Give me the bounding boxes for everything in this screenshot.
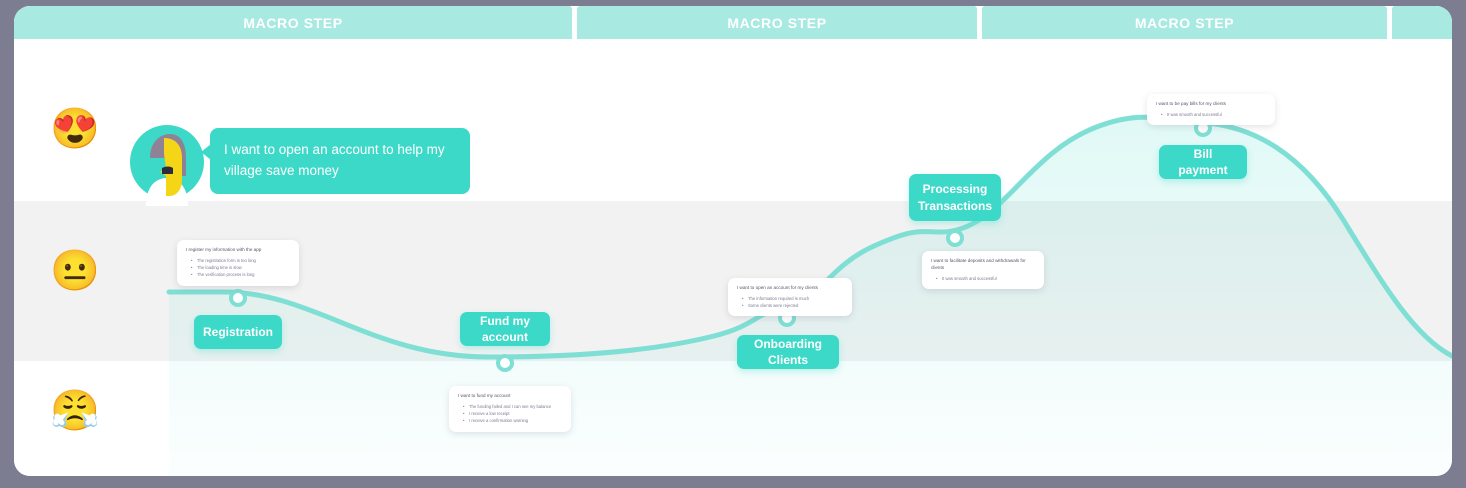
note-card-onboarding[interactable]: I want to open an account for my clients… xyxy=(728,278,852,316)
note-title: I want to be pay bills for my clients xyxy=(1156,101,1266,108)
step-pill-fund-account[interactable]: Fund my account xyxy=(460,312,550,346)
note-bullet-list: The funding failed and I can see my bala… xyxy=(458,403,562,425)
step-pill-processing[interactable]: Processing Transactions xyxy=(909,174,1001,221)
persona-speech-bubble: I want to open an account to help my vil… xyxy=(210,128,470,194)
note-bullet: The funding failed and I can see my bala… xyxy=(465,403,562,410)
step-pill-onboarding-label: Onboarding Clients xyxy=(747,336,829,368)
step-pill-onboarding[interactable]: Onboarding Clients xyxy=(737,335,839,369)
step-pill-bill-payment-label: Bill payment xyxy=(1169,146,1237,178)
note-title: I register my information with the app xyxy=(186,247,290,254)
note-bullet: Some clients were rejected xyxy=(744,302,843,309)
curve-node-processing[interactable] xyxy=(948,231,962,245)
note-card-funding[interactable]: I want to fund my account The funding fa… xyxy=(449,386,571,432)
journey-map-canvas: MACRO STEP MACRO STEP MACRO STEP 😍 😐 😤 xyxy=(14,6,1452,476)
note-card-billpayment[interactable]: I want to be pay bills for my clients It… xyxy=(1147,94,1275,125)
note-bullet: The verification process is long xyxy=(193,271,290,278)
note-title: I want to facilitate deposits and withdr… xyxy=(931,258,1035,272)
note-bullet: The loading time is slow xyxy=(193,264,290,271)
note-bullet: It was smooth and successful xyxy=(1163,111,1266,118)
step-pill-fund-account-label: Fund my account xyxy=(470,313,540,345)
persona-quote-text: I want to open an account to help my vil… xyxy=(224,142,445,178)
step-pill-registration-label: Registration xyxy=(203,324,273,340)
note-bullet-list: The registration form is too long The lo… xyxy=(186,257,290,279)
emotion-icon-neutral: 😐 xyxy=(50,248,96,294)
note-title: I want to open an account for my clients xyxy=(737,285,843,292)
note-bullet: The information required is much xyxy=(744,295,843,302)
step-pill-registration[interactable]: Registration xyxy=(194,315,282,349)
note-card-transactions[interactable]: I want to facilitate deposits and withdr… xyxy=(922,251,1044,289)
note-bullet: The registration form is too long xyxy=(193,257,290,264)
note-card-registration[interactable]: I register my information with the app T… xyxy=(177,240,299,286)
step-pill-bill-payment[interactable]: Bill payment xyxy=(1159,145,1247,179)
note-bullet: I receive a low receipt xyxy=(465,410,562,417)
emotion-icon-negative: 😤 xyxy=(50,388,96,434)
curve-node-registration[interactable] xyxy=(231,291,245,305)
note-bullet: I receive a confirmation warning xyxy=(465,417,562,424)
note-title: I want to fund my account xyxy=(458,393,562,400)
step-pill-processing-label: Processing Transactions xyxy=(918,181,992,213)
emotion-icon-positive: 😍 xyxy=(50,106,96,152)
note-bullet-list: It was smooth and successful xyxy=(1156,111,1266,118)
persona-avatar xyxy=(126,124,208,206)
note-bullet: It was smooth and successful xyxy=(938,275,1035,282)
note-bullet-list: The information required is much Some cl… xyxy=(737,295,843,309)
note-bullet-list: It was smooth and successful xyxy=(931,275,1035,282)
curve-node-fund-account[interactable] xyxy=(498,356,512,370)
